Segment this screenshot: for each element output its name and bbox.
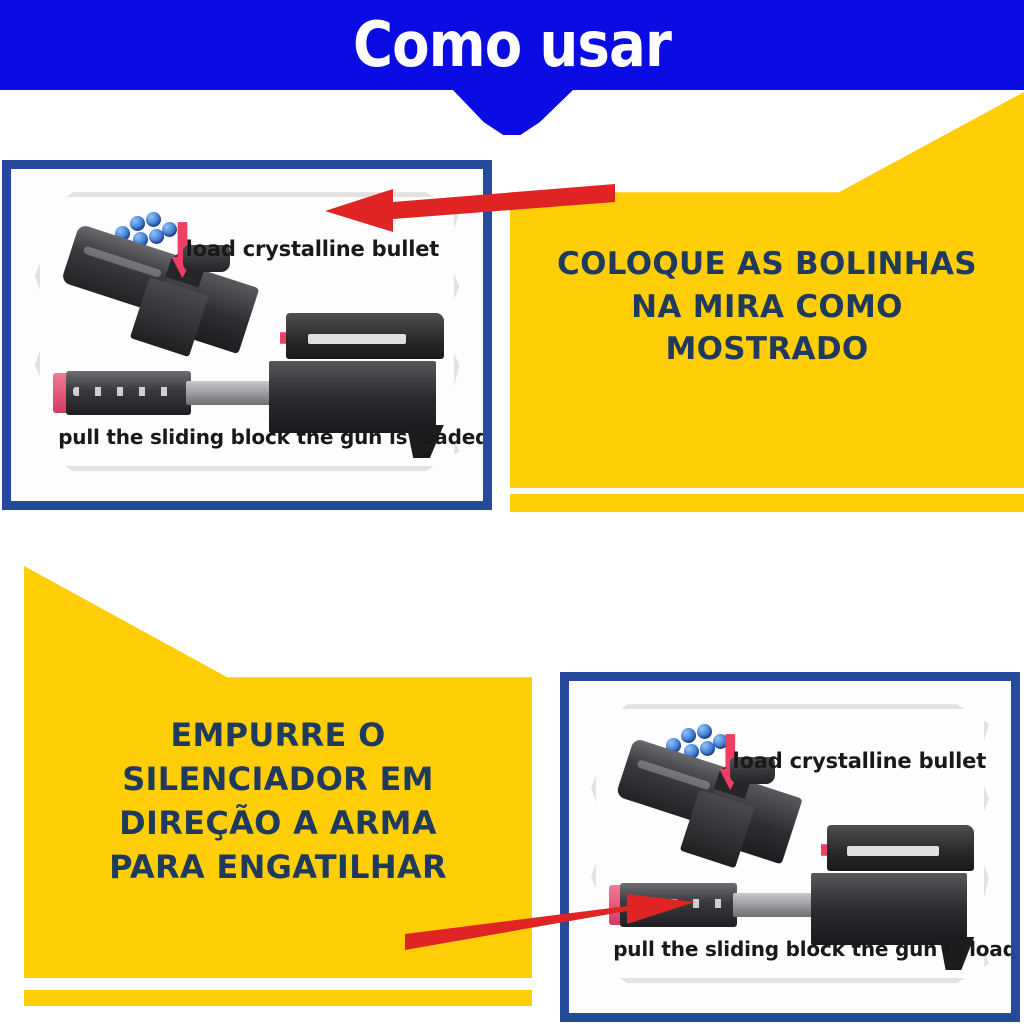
- step-2-photo-panel: load crystalline bullet pull the sliding…: [560, 672, 1020, 1022]
- step-2-accent-bar: [24, 990, 532, 1006]
- inner-barrel: [186, 381, 277, 405]
- page-title: Como usar: [61, 0, 962, 90]
- upper-receiver: [827, 825, 975, 871]
- lower-receiver: [269, 361, 435, 433]
- step-1-instruction-panel: COLOQUE AS BOLINHAS NA MIRA COMO MOSTRAD…: [510, 92, 1024, 488]
- step-2-instruction-text: EMPURRE O SILENCIADOR EM DIREÇÃO A ARMA …: [24, 713, 532, 890]
- instruction-line: NA MIRA COMO: [528, 286, 1006, 329]
- step-1-accent-bar: [510, 494, 1024, 512]
- instruction-line: MOSTRADO: [528, 328, 1006, 371]
- caption-pull-block: pull the sliding block the gun is loaded: [58, 425, 489, 449]
- instruction-line: PARA ENGATILHAR: [42, 845, 514, 889]
- step-2-pointer-arrow-icon: [405, 894, 695, 950]
- instruction-infographic: Como usar: [0, 0, 1024, 1024]
- header-notch-triangle: [452, 89, 574, 135]
- suppressor: [66, 371, 191, 415]
- instruction-line: COLOQUE AS BOLINHAS: [528, 243, 1006, 286]
- instruction-line: DIREÇÃO A ARMA: [42, 801, 514, 845]
- step-1-instruction-text: COLOQUE AS BOLINHAS NA MIRA COMO MOSTRAD…: [510, 243, 1024, 371]
- step-1-pointer-arrow-icon: [325, 178, 615, 232]
- instruction-line: SILENCIADOR EM: [42, 757, 514, 801]
- caption-load-bullet: load crystalline bullet: [186, 237, 440, 261]
- photo-canvas: load crystalline bullet pull the sliding…: [569, 681, 1011, 1013]
- inner-barrel: [733, 893, 819, 917]
- upper-receiver: [286, 313, 444, 359]
- instruction-line: EMPURRE O: [42, 713, 514, 757]
- caption-load-bullet: load crystalline bullet: [733, 749, 987, 773]
- lower-receiver: [811, 873, 967, 945]
